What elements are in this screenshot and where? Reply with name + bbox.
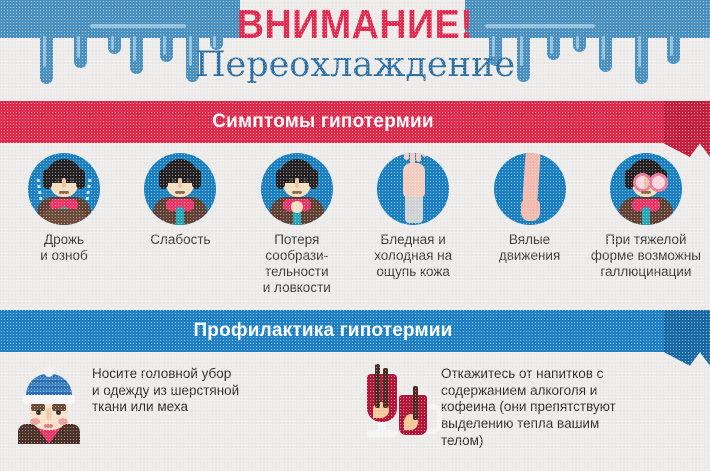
prevention-text: Откажитесь от напитков с содержанием алк… bbox=[441, 362, 616, 450]
symptom-item: Бледная и холодная на ощупь кожа bbox=[357, 153, 469, 296]
prevention-item: Откажитесь от напитков с содержанием алк… bbox=[355, 362, 704, 450]
prevention-item: Носите головной убор и одежду из шерстян… bbox=[6, 362, 355, 450]
prevention-list: Носите головной убор и одежду из шерстян… bbox=[0, 352, 710, 450]
symptom-label: Бледная и холодная на ощупь кожа bbox=[357, 232, 469, 280]
symptoms-banner-label: Симптомы гипотермии bbox=[212, 111, 434, 133]
alcohol-drinks-icon bbox=[355, 362, 441, 444]
symptoms-banner: Симптомы гипотермии bbox=[0, 101, 710, 143]
shivering-person-icon bbox=[28, 153, 100, 225]
symptom-item: Дрожь и озноб bbox=[8, 153, 120, 296]
symptom-label: При тяжелой форме возможны галлюцинации bbox=[590, 232, 702, 280]
symptoms-list: Дрожь и озноб Слабость Потеря сообрази- … bbox=[0, 143, 710, 296]
symptom-label: Вялые движения bbox=[474, 232, 586, 264]
pale-hand-icon bbox=[377, 153, 449, 225]
symptom-item: Вялые движения bbox=[474, 153, 586, 296]
page-subtitle: Переохлаждение bbox=[0, 47, 710, 84]
symptom-item: При тяжелой форме возможны галлюцинации bbox=[590, 153, 702, 296]
prevention-banner-label: Профилактика гипотермии bbox=[193, 320, 452, 342]
winter-hat-person-icon bbox=[6, 362, 92, 444]
symptom-item: Потеря сообрази- тельности и ловкости bbox=[241, 153, 353, 296]
symptom-label: Слабость bbox=[124, 232, 236, 248]
symptom-label: Потеря сообрази- тельности и ловкости bbox=[241, 232, 353, 296]
hallucinating-person-icon bbox=[610, 153, 682, 225]
prevention-banner: Профилактика гипотермии bbox=[0, 310, 710, 352]
page-title: ВНИМАНИЕ! bbox=[28, 4, 681, 45]
prevention-text: Носите головной убор и одежду из шерстян… bbox=[92, 362, 239, 417]
symptom-label: Дрожь и озноб bbox=[8, 232, 120, 264]
limp-arm-icon bbox=[494, 153, 566, 225]
header-banner: ВНИМАНИЕ! Переохлаждение bbox=[0, 0, 710, 93]
symptom-item: Слабость bbox=[124, 153, 236, 296]
weak-person-icon bbox=[144, 153, 216, 225]
confused-person-icon bbox=[261, 153, 333, 225]
